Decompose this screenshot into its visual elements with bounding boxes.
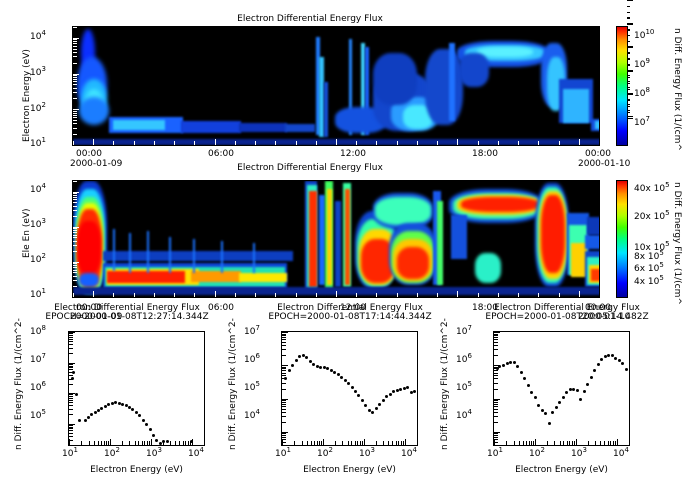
data-point [371,411,374,414]
axis-tick [494,439,498,440]
axis-tick [282,355,286,356]
data-point [364,404,367,407]
axis-tick [595,441,596,445]
axis-tick [335,441,336,445]
axis-tick [531,441,532,445]
top-xtick-2: 12:00 [340,149,366,159]
axis-tick [73,228,77,229]
axis-tick [235,141,236,145]
axis-tick [69,405,73,406]
spectrum-left-ylabel-group: n Diff. Energy Flux (1/(cm^2- [14,450,146,460]
data-point [347,382,350,385]
axis-tick [282,342,286,343]
axis-tick [73,263,77,264]
axis-tick [494,375,498,376]
axis-tick [275,293,276,297]
data-point [340,376,343,379]
axis-tick [579,139,580,145]
axis-tick [69,440,73,441]
axis-tick [73,134,77,135]
axis-tick [73,117,77,118]
axis-tick [69,344,73,345]
axis-tick [604,441,605,445]
axis-tick [613,441,614,445]
data-point [84,419,87,422]
axis-tick [69,400,73,401]
axis-tick [134,293,135,297]
axis-tick [69,339,73,340]
axis-tick [104,441,105,445]
axis-tick [336,139,337,145]
axis-tick [113,141,114,145]
middle-colorbar [616,180,628,298]
axis-tick [69,333,73,334]
data-point [100,407,103,410]
top-ytick-1: 101 [30,139,46,149]
axis-tick [73,145,79,146]
data-point [583,390,586,393]
axis-tick [282,422,286,423]
data-point [593,369,596,372]
axis-tick [282,409,286,410]
axis-tick [73,251,77,252]
axis-tick [73,74,79,75]
colorbar-tick [627,104,630,105]
axis-tick [69,414,73,415]
axis-tick [110,439,111,445]
axis-tick [311,441,312,445]
data-point [90,413,93,416]
axis-tick [567,441,568,445]
data-point [389,393,392,396]
axis-tick [417,293,418,297]
axis-tick [282,433,286,434]
sl-ytick-5: 105 [30,411,46,421]
data-point [534,396,537,399]
axis-tick [69,369,73,370]
axis-tick [282,399,288,400]
axis-tick [401,441,402,445]
axis-tick [494,335,498,336]
axis-tick [494,368,498,369]
sm-ytick-6: 106 [244,355,260,365]
axis-tick [101,441,102,445]
axis-tick [282,400,286,401]
axis-tick [170,441,171,445]
data-point [523,377,526,380]
axis-tick [69,384,73,385]
data-point [555,406,558,409]
axis-tick [69,402,73,403]
axis-tick [282,383,286,384]
axis-tick [576,439,577,445]
axis-tick [362,441,363,445]
axis-tick [357,441,358,445]
colorbar-tick [627,0,633,1]
colorbar-tick [627,81,630,82]
sl-ytick-6: 106 [30,383,46,393]
axis-tick [560,441,561,445]
axis-tick [494,432,500,433]
axis-tick [599,293,600,297]
top-cbtick-8: 108 [634,89,650,99]
colorbar-tick [627,35,630,36]
axis-tick [518,141,519,145]
axis-tick [73,286,77,287]
axis-tick [559,293,560,297]
data-point [392,390,395,393]
axis-tick [73,27,77,28]
axis-tick [73,265,77,266]
axis-tick [494,334,498,335]
data-point [399,388,402,391]
data-point [385,395,388,398]
axis-tick [494,367,498,368]
axis-tick [215,139,216,145]
axis-tick [69,396,73,397]
axis-tick [351,441,352,445]
axis-tick [93,139,94,145]
data-point [312,363,315,366]
mid-cbtick-4: 4x 105 [634,277,664,287]
axis-tick [403,441,404,445]
axis-tick [282,365,288,366]
data-point [295,359,298,362]
axis-tick [73,227,79,228]
sm-xtick-3: 103 [359,449,375,459]
axis-tick [188,441,189,445]
data-point [579,398,582,401]
axis-tick [494,442,498,443]
mid-cbtick-20: 20x 105 [634,212,670,222]
data-point [513,361,516,364]
top-cbtick-7: 107 [634,118,650,128]
colorbar-tick [627,89,630,90]
axis-tick [69,409,73,410]
axis-tick [457,139,458,145]
data-point [572,388,575,391]
axis-tick [494,345,498,346]
colorbar-tick [627,83,630,84]
colorbar-tick [627,94,633,95]
mid-ytick-2: 102 [30,255,46,265]
axis-tick [615,441,616,445]
axis-tick [514,441,515,445]
axis-tick [73,230,77,231]
axis-tick [183,441,184,445]
data-point [326,367,329,370]
axis-tick [629,441,630,445]
data-point [337,373,340,376]
axis-tick [610,441,611,445]
axis-tick [405,439,406,445]
axis-tick [98,441,99,445]
spectrum-middle-subtitle: EPOCH=2000-01-08T17:14:44.344Z [240,312,460,322]
top-spectrogram-image [72,26,600,146]
data-point [541,409,544,412]
axis-tick [282,375,286,376]
data-point [502,364,505,367]
axis-tick [457,291,458,297]
axis-tick [73,235,77,236]
data-point [138,414,141,417]
axis-tick [174,293,175,297]
colorbar-tick [627,70,633,71]
axis-tick [588,441,589,445]
axis-tick [494,370,498,371]
colorbar-tick [627,87,630,88]
axis-tick [321,441,322,445]
axis-tick [73,123,77,124]
axis-tick [73,111,77,112]
axis-tick [275,141,276,145]
data-point [516,365,519,368]
axis-tick [113,293,114,297]
axis-tick [73,245,77,246]
data-point [614,357,617,360]
axis-tick [282,368,286,369]
axis-tick [69,348,73,349]
axis-tick [73,197,77,198]
data-point [152,434,155,437]
axis-tick [154,141,155,145]
axis-tick [494,399,500,400]
axis-tick [69,398,73,399]
axis-tick [73,280,77,281]
axis-tick [494,404,498,405]
axis-tick [282,339,286,340]
axis-tick [506,441,507,445]
axis-tick [69,366,73,367]
sl-xtick-3: 103 [146,449,162,459]
colorbar-tick [627,64,630,65]
data-point [537,404,540,407]
axis-tick [144,441,145,445]
top-cbtick-10: 1010 [634,31,654,41]
axis-tick [323,439,324,445]
colorbar-tick [627,100,630,101]
colorbar-tick [627,110,630,111]
data-point [357,394,360,397]
data-point [142,419,145,422]
data-point [576,389,579,392]
data-point [94,411,97,414]
colorbar-tick [627,23,633,24]
spectrum-middle-xlabel: Electron Energy (eV) [281,465,418,475]
data-point [413,390,416,393]
axis-tick [69,375,73,376]
axis-tick [563,441,564,445]
sl-ytick-8: 108 [30,327,46,337]
axis-tick [518,293,519,297]
data-point [135,411,138,414]
axis-tick [314,441,315,445]
data-point [309,360,312,363]
axis-tick [397,293,398,297]
sl-ytick-7: 107 [30,355,46,365]
axis-tick [342,441,343,445]
spectrum-right-plot-area [493,331,630,446]
axis-tick [282,439,286,440]
axis-tick [73,41,77,42]
axis-tick [73,128,77,129]
axis-tick [94,441,95,445]
axis-tick [538,293,539,297]
axis-tick [600,441,601,445]
spectrum-middle-plot-area [281,331,418,446]
axis-tick [73,192,79,193]
axis-tick [73,39,77,40]
colorbar-tick [627,77,630,78]
axis-tick [579,291,580,297]
axis-tick [73,181,77,182]
colorbar-tick [627,29,630,30]
sr-ytick-4: 104 [456,411,472,421]
axis-tick [73,237,77,238]
axis-tick [360,441,361,445]
axis-tick [494,402,498,403]
axis-tick [538,141,539,145]
data-point [75,393,78,396]
axis-tick [69,433,73,434]
axis-tick [282,373,286,374]
axis-tick [69,364,73,365]
top-ytick-4: 104 [30,32,46,42]
spectrum-right-subtitle: EPOCH=2000-01-08T20:05:14.482Z [452,312,682,322]
data-point [114,401,117,404]
axis-tick [73,216,77,217]
axis-tick [282,442,286,443]
axis-tick [348,441,349,445]
sr-xtick-4: 104 [613,449,629,459]
axis-tick [282,332,288,333]
axis-tick [296,141,297,145]
axis-tick [282,416,286,417]
axis-tick [135,441,136,445]
axis-tick [138,441,139,445]
data-point [590,376,593,379]
axis-tick [149,441,150,445]
middle-colorbar-label-group: n Diff. Energy Flux (1/(cm^ [682,182,697,192]
axis-tick [282,378,286,379]
axis-tick [73,56,77,57]
data-point [607,354,610,357]
axis-tick [437,141,438,145]
sm-xtick-1: 101 [275,449,291,459]
axis-tick [93,291,94,297]
axis-tick [617,439,618,445]
spectrum-right-ylabel-group: n Diff. Energy Flux (1/(cm^2- [440,450,572,460]
axis-tick [307,441,308,445]
axis-tick [554,441,555,445]
axis-tick [69,393,75,394]
sl-xtick-1: 101 [62,449,78,459]
axis-tick [69,337,73,338]
axis-tick [294,441,295,445]
axis-tick [69,428,73,429]
axis-tick [73,77,77,78]
data-point [520,371,523,374]
top-colorbar-label: n Diff. Energy Flux (1/(cm^ [672,28,682,151]
axis-tick [122,441,123,445]
axis-tick [376,441,377,445]
sm-ytick-5: 105 [244,383,260,393]
axis-tick [547,441,548,445]
axis-tick [478,293,479,297]
axis-tick [494,355,498,356]
axis-tick [69,353,73,354]
axis-tick [69,430,73,431]
axis-tick [494,406,498,407]
axis-tick [494,412,498,413]
axis-tick [282,334,286,335]
data-point [562,396,565,399]
axis-tick [73,272,77,273]
data-point [351,386,354,389]
axis-tick [392,441,393,445]
top-xtick-1: 06:00 [208,149,234,159]
axis-tick [282,367,286,368]
data-point [319,366,322,369]
spectrum-right-xlabel: Electron Energy (eV) [493,465,630,475]
axis-tick [376,141,377,145]
axis-tick [194,293,195,297]
axis-tick [73,202,77,203]
axis-tick [106,441,107,445]
axis-tick [204,441,205,445]
sm-xtick-4: 104 [401,449,417,459]
sr-ytick-5: 105 [456,383,472,393]
spectrum-left-plot-area [68,331,205,446]
axis-tick [108,441,109,445]
data-point [586,383,589,386]
axis-tick [282,389,286,390]
data-point [131,408,134,411]
axis-tick [69,394,73,395]
colorbar-tick [627,65,630,66]
colorbar-tick [627,99,630,100]
top-ytick-2: 102 [30,104,46,114]
axis-tick [73,141,74,145]
colorbar-tick [627,106,630,107]
top-xtick-0: 00:00 [76,149,102,159]
axis-tick [356,293,357,297]
axis-tick [282,402,286,403]
axis-tick [235,293,236,297]
spectrum-left-xlabel: Electron Energy (eV) [68,465,205,475]
mid-ytick-1: 101 [30,290,46,300]
axis-tick [494,342,498,343]
axis-tick [569,441,570,445]
axis-tick [494,373,498,374]
axis-tick [134,141,135,145]
data-point [361,399,364,402]
axis-tick [147,441,148,445]
axis-tick [73,81,77,82]
data-point [621,362,624,365]
colorbar-tick [627,46,633,47]
axis-tick [296,293,297,297]
data-point [166,440,169,443]
axis-tick [494,437,498,438]
colorbar-tick [627,41,630,42]
axis-tick [255,293,256,297]
axis-tick [73,210,77,211]
axis-tick [302,441,303,445]
top-colorbar [616,26,628,146]
data-point [298,355,301,358]
data-point [149,428,152,431]
